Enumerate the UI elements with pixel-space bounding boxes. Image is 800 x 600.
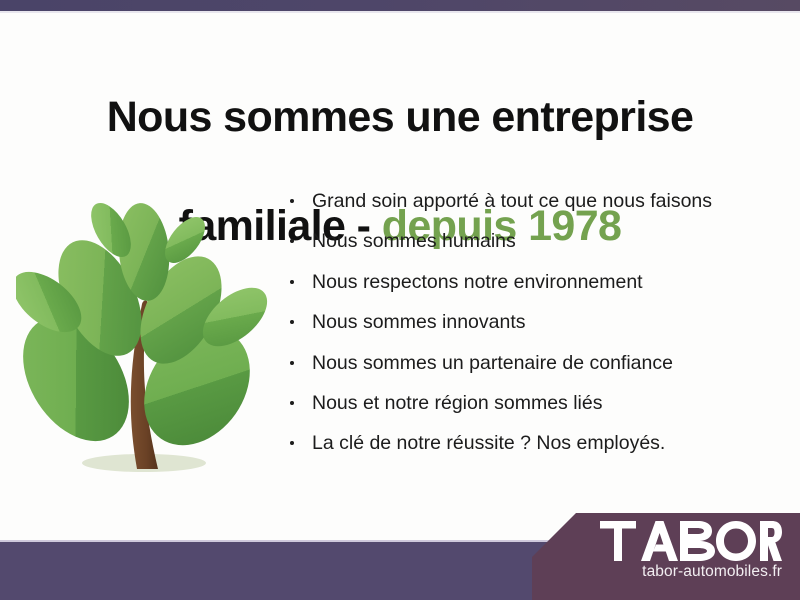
list-item-label: Grand soin apporté à tout ce que nous fa… [312, 190, 712, 212]
brand-logo-inner: tabor-automobiles.fr [600, 521, 782, 581]
list-item: Grand soin apporté à tout ce que nous fa… [286, 190, 766, 213]
bullet-icon [290, 361, 294, 365]
list-item: Nous sommes innovants [286, 311, 766, 334]
list-item-label: Nous respectons notre environnement [312, 271, 643, 293]
bullet-icon [290, 199, 294, 203]
list-item-label: Nous sommes un partenaire de confiance [312, 352, 673, 374]
brand-tagline: tabor-automobiles.fr [600, 563, 782, 581]
bullet-icon [290, 239, 294, 243]
bullet-icon [290, 320, 294, 324]
list-item: Nous respectons notre environnement [286, 271, 766, 294]
bullet-icon [290, 280, 294, 284]
list-item-label: Nous et notre région sommes liés [312, 392, 602, 414]
tabor-wordmark-icon [600, 521, 782, 561]
top-bar-hairline [0, 11, 800, 13]
list-item: Nous sommes humains [286, 230, 766, 253]
list-item-label: La clé de notre réussite ? Nos employés. [312, 432, 665, 454]
list-item-label: Nous sommes innovants [312, 311, 526, 333]
tree-illustration [16, 182, 278, 488]
top-accent-bar [0, 0, 800, 11]
bullet-icon [290, 441, 294, 445]
brand-logo-panel: tabor-automobiles.fr [532, 513, 800, 600]
list-item-label: Nous sommes humains [312, 230, 516, 252]
list-item: Nous et notre région sommes liés [286, 392, 766, 415]
benefits-list: Grand soin apporté à tout ce que nous fa… [286, 190, 766, 456]
list-item: Nous sommes un partenaire de confiance [286, 352, 766, 375]
list-item: La clé de notre réussite ? Nos employés. [286, 432, 766, 455]
headline-line-1: Nous sommes une entreprise [40, 90, 760, 144]
slide-root: Nous sommes une entreprise familiale - d… [0, 0, 800, 600]
bullet-icon [290, 401, 294, 405]
